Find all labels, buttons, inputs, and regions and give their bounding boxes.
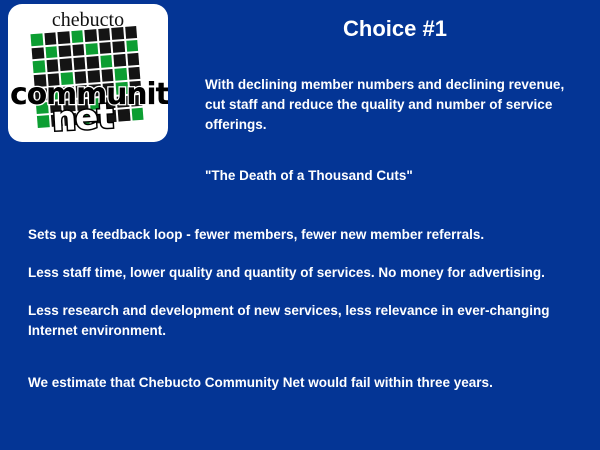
logo-grid-tile <box>44 32 56 45</box>
logo-chebucto-wordmark: chebucto <box>8 9 168 31</box>
list-item: Less staff time, lower quality and quant… <box>28 263 568 283</box>
logo-grid-tile <box>125 26 137 39</box>
logo-grid-tile <box>60 59 72 72</box>
logo-grid-tile <box>73 58 85 71</box>
logo-grid-tile <box>57 31 69 44</box>
logo-grid-tile <box>99 42 111 55</box>
logo-grid-tile <box>113 54 125 67</box>
logo-grid-tile <box>46 60 58 73</box>
logo-grid-tile <box>30 33 42 46</box>
logo-artwork: chebucto community net <box>8 4 168 142</box>
logo-grid-tile <box>84 29 96 42</box>
logo-grid-tile <box>32 47 44 60</box>
logo-grid-tile <box>112 41 124 54</box>
logo-grid-tile <box>45 46 57 59</box>
logo-grid-tile <box>100 55 112 68</box>
slide-canvas: chebucto community net Choice #1 With de… <box>0 0 600 450</box>
chebucto-community-net-logo: chebucto community net <box>8 4 168 142</box>
list-item: Sets up a feedback loop - fewer members,… <box>28 225 568 245</box>
logo-grid-tile <box>37 115 49 128</box>
intro-paragraph: With declining member numbers and declin… <box>205 75 565 135</box>
quote-line: "The Death of a Thousand Cuts" <box>205 166 575 186</box>
logo-grid-tile <box>126 40 138 53</box>
logo-grid-tile <box>58 45 70 58</box>
list-item: We estimate that Chebucto Community Net … <box>28 373 568 393</box>
logo-grid-tile <box>86 57 98 70</box>
logo-grid-tile <box>72 44 84 57</box>
page-title: Choice #1 <box>190 16 600 42</box>
logo-grid-tile <box>98 28 110 41</box>
logo-grid-tile <box>111 27 123 40</box>
logo-grid-tile <box>33 61 45 74</box>
consequences-list: Sets up a feedback loop - fewer members,… <box>28 225 568 393</box>
logo-net-wordmark: net <box>51 99 113 136</box>
list-item: Less research and development of new ser… <box>28 301 568 341</box>
logo-grid-tile <box>85 43 97 56</box>
logo-grid-tile <box>71 30 83 43</box>
logo-grid-tile <box>127 53 139 66</box>
